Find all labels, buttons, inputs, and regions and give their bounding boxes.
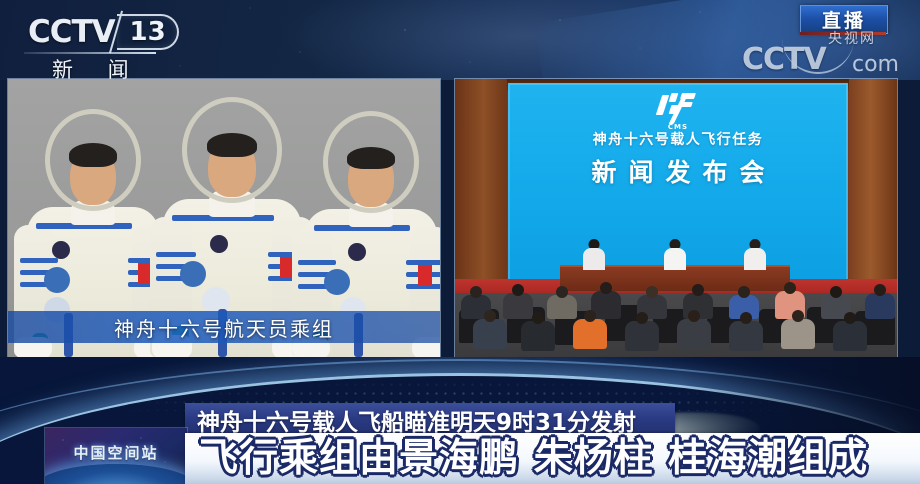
headline-band: 飞行乘组由景海鹏 朱杨柱 桂海潮组成 [185, 433, 920, 484]
astronaut-hair [207, 133, 257, 157]
cms-logo-icon: CMS [655, 93, 701, 119]
audience-person [677, 319, 711, 349]
channel-header-bar: CCTV 13 新 闻 直播 CCTV com 央视网 [0, 0, 920, 80]
audience-person [865, 293, 895, 319]
live-badge-label: 直播 [822, 6, 866, 33]
channel-number: 13 [130, 17, 166, 47]
watermark-com-text: com [852, 52, 899, 77]
audience-person [503, 293, 533, 319]
suit-connector [52, 241, 70, 259]
subheadline-text: 神舟十六号载人飞船瞄准明天9时31分发射 [185, 403, 636, 437]
headline-text: 飞行乘组由景海鹏 朱杨柱 桂海潮组成 [185, 439, 868, 478]
astronaut-hair [69, 143, 117, 167]
audience-person [833, 321, 867, 351]
left-panel-caption-text: 神舟十六号航天员乘组 [114, 313, 334, 342]
station-badge-label: 中国空间站 [45, 442, 187, 463]
suit-connector [210, 235, 228, 253]
hall-wall-right [849, 79, 897, 293]
badge-earth-arc [45, 464, 187, 484]
mission-patch [180, 261, 206, 287]
live-badge-underline [800, 32, 886, 35]
subheadline-bar: 神舟十六号载人飞船瞄准明天9时31分发射 [185, 403, 675, 436]
video-panel-right: CMS 神舟十六号载人飞行任务 新闻发布会 [455, 79, 897, 357]
channel-subname: 新 闻 [52, 54, 143, 80]
audience-person [625, 321, 659, 351]
broadcast-screen: CCTV 13 新 闻 直播 CCTV com 央视网 [0, 0, 920, 484]
speaker-center [663, 239, 687, 269]
cctv-13-logo: CCTV 13 [28, 14, 179, 50]
audience-person [547, 295, 577, 319]
suit-connector [348, 243, 366, 261]
watermark-cctv-text: CCTV [742, 42, 826, 77]
speaker-left [582, 239, 606, 269]
suit-stripe [298, 260, 336, 265]
watermark-swoosh-icon [782, 30, 854, 74]
audience-person [573, 319, 607, 349]
china-space-station-badge: 中国空间站 [45, 428, 187, 484]
screen-mission-title: 神舟十六号载人飞行任务 [508, 129, 848, 149]
suit-stripe [20, 258, 58, 263]
audience-person [521, 321, 555, 351]
video-panel-left: 神舟十六号航天员乘组 [8, 79, 440, 357]
mission-patch [324, 269, 350, 295]
screen-event-title: 新闻发布会 [508, 153, 848, 189]
live-badge: 直播 [800, 5, 888, 34]
audience-person [781, 319, 815, 349]
suit-stripe [156, 252, 196, 257]
audience-floor [455, 293, 897, 357]
china-flag-patch [418, 265, 432, 285]
audience-person [473, 319, 507, 349]
audience-person [729, 321, 763, 351]
mission-patch [44, 267, 70, 293]
left-panel-caption: 神舟十六号航天员乘组 [8, 311, 440, 343]
speaker-right [743, 239, 767, 269]
cctv-wordmark: CCTV [28, 17, 115, 48]
channel-number-badge: 13 [117, 14, 179, 50]
hall-wall-left [455, 79, 507, 293]
astronaut-hair [347, 147, 395, 169]
